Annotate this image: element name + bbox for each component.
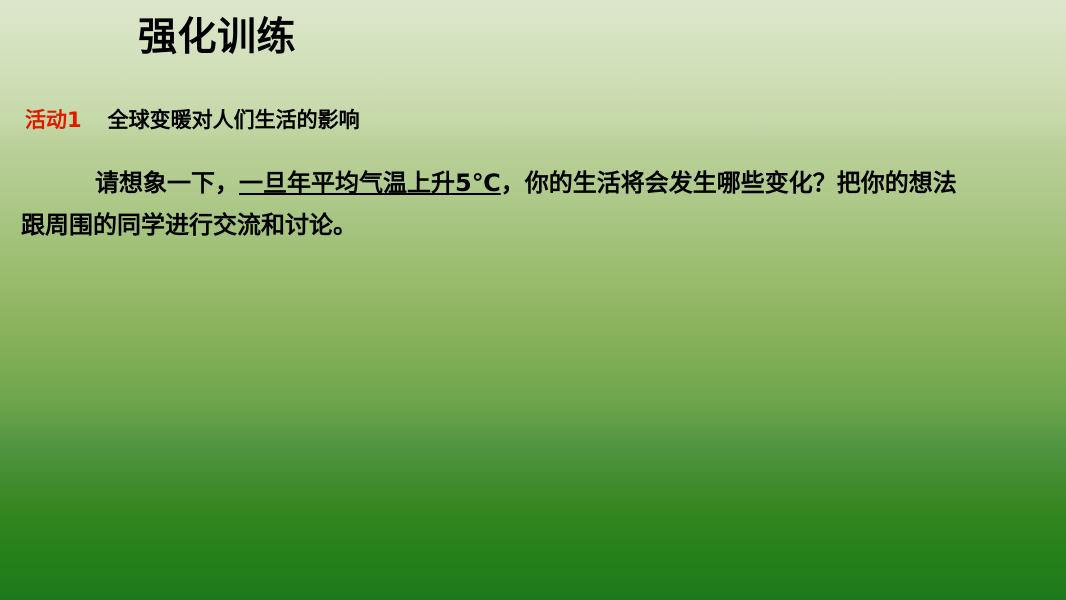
body-text-segment-2: ，你的生活将会发生哪些变化？把你的想法 [501, 169, 957, 197]
activity-heading: 活动1全球变暖对人们生活的影响 [25, 105, 360, 135]
activity-label: 活动1 [25, 108, 82, 132]
body-line-2: 跟周围的同学进行交流和讨论。 [21, 204, 1053, 246]
page-title: 强化训练 [138, 14, 296, 62]
body-line-1: 请想象一下，一旦年平均气温上升5℃，你的生活将会发生哪些变化？把你的想法 [21, 162, 1053, 204]
body-text-segment-1: 请想象一下， [95, 169, 239, 197]
body-paragraph: 请想象一下，一旦年平均气温上升5℃，你的生活将会发生哪些变化？把你的想法 跟周围… [21, 162, 1053, 246]
body-text-underlined: 一旦年平均气温上升5℃ [239, 169, 501, 197]
slide-canvas: 强化训练 活动1全球变暖对人们生活的影响 请想象一下，一旦年平均气温上升5℃，你… [0, 0, 1066, 600]
activity-title: 全球变暖对人们生活的影响 [108, 108, 360, 132]
